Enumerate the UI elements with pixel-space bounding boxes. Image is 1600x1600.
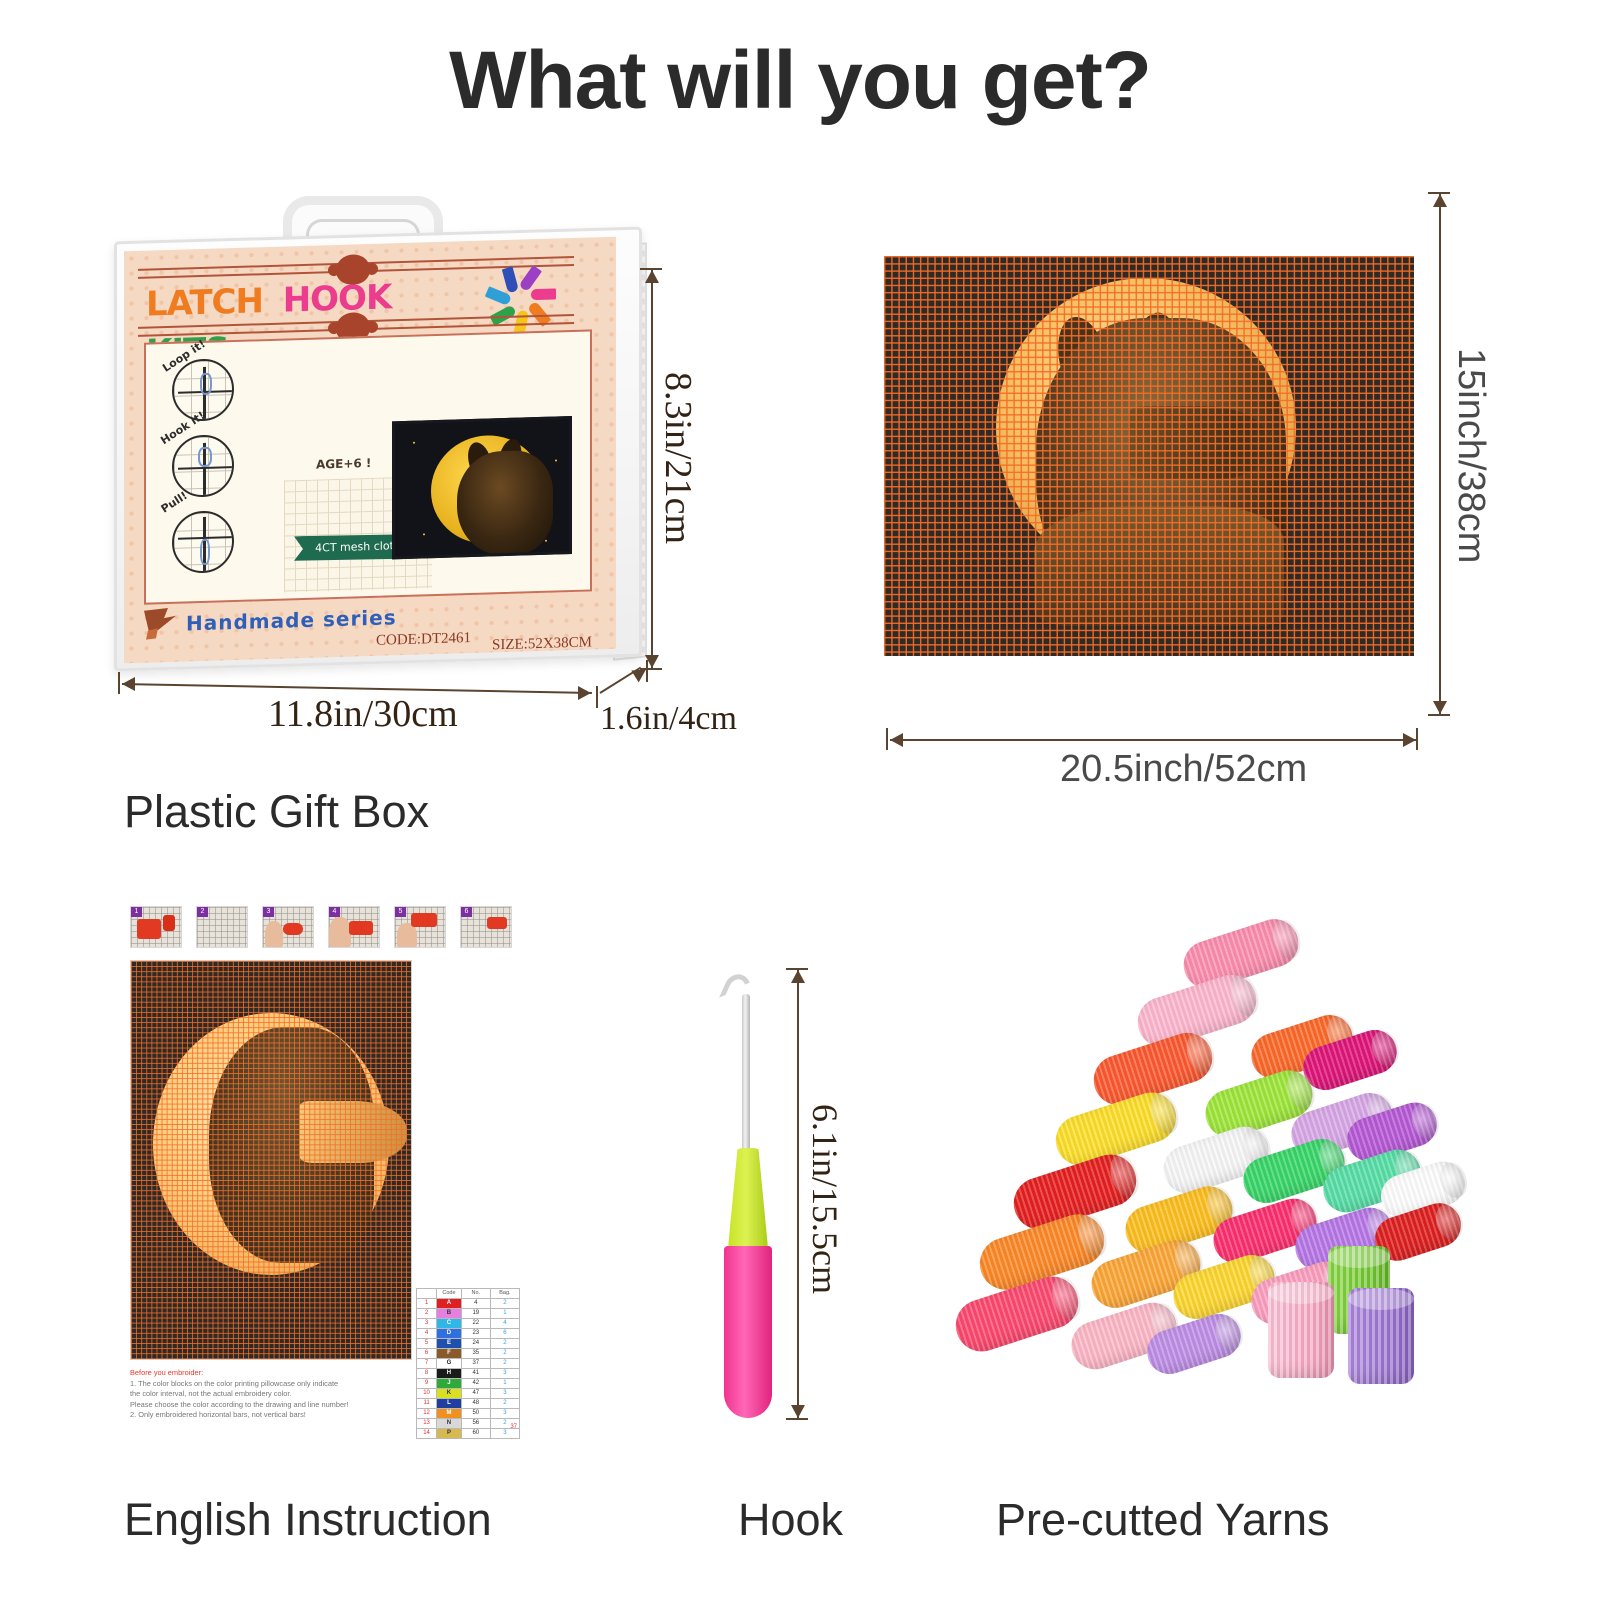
- legend-cell-index: 9: [417, 1379, 437, 1389]
- legend-row: 4D236: [417, 1329, 520, 1339]
- legend-cell-bag: 6: [490, 1329, 519, 1339]
- legend-cell-code: H: [437, 1369, 462, 1379]
- legend-cell-no: 48: [461, 1399, 490, 1409]
- step-diagram-pull: [172, 510, 234, 574]
- legend-cell-no: 60: [461, 1429, 490, 1439]
- box-printed-face: LATCH HOOK KITS Loop it!: [124, 237, 616, 664]
- hook-handle-upper: [728, 1148, 768, 1248]
- instruction-pattern-chart: [130, 960, 412, 1360]
- legend-cell-no: 37: [461, 1359, 490, 1369]
- finished-rug-photo: [392, 416, 572, 559]
- legend-cell-bag: 3: [490, 1409, 519, 1419]
- legend-cell-no: 50: [461, 1409, 490, 1419]
- legend-cell-index: 12: [417, 1409, 437, 1419]
- thumbnail-step-2: 2: [196, 906, 248, 948]
- yarns-caption: Pre-cutted Yarns: [996, 1494, 1330, 1546]
- box-code-text: CODE:DT2461: [376, 630, 471, 650]
- legend-cell-no: 42: [461, 1379, 490, 1389]
- legend-row: 12M503: [417, 1409, 520, 1419]
- legend-cell-bag: 4: [490, 1319, 519, 1329]
- brand-word-hook: HOOK: [283, 277, 392, 320]
- before-embroider-line-1: 1. The color blocks on the color printin…: [130, 1379, 416, 1390]
- english-instruction-sheet: 1 2 3 4 5 6: [124, 898, 524, 1398]
- legend-header-row: Code No. Bag.: [417, 1289, 520, 1299]
- thumbnail-number: 1: [131, 907, 142, 917]
- legend-cell-index: 10: [417, 1389, 437, 1399]
- instruction-thumbnail-strip: 1 2 3 4 5 6: [130, 906, 518, 956]
- before-embroider-heading: Before you embroider:: [130, 1368, 416, 1379]
- legend-cell-no: 22: [461, 1319, 490, 1329]
- legend-cell-no: 35: [461, 1349, 490, 1359]
- legend-cell-no: 19: [461, 1309, 490, 1319]
- legend-cell-no: 41: [461, 1369, 490, 1379]
- handmade-series-text: Handmade series: [186, 605, 397, 635]
- thumbnail-number: 6: [461, 907, 472, 917]
- legend-cell-index: 7: [417, 1359, 437, 1369]
- canvas-width-label: 20.5inch/52cm: [1060, 748, 1307, 791]
- legend-cell-code: K: [437, 1389, 462, 1399]
- mesh-canvas-image: [884, 256, 1414, 656]
- legend-cell-code: M: [437, 1409, 462, 1419]
- legend-row: 8H413: [417, 1369, 520, 1379]
- legend-cell-bag: 2: [490, 1399, 519, 1409]
- legend-cell-no: 24: [461, 1339, 490, 1349]
- legend-cell-index: 14: [417, 1429, 437, 1439]
- legend-cell-bag: 1: [490, 1309, 519, 1319]
- yarn-color-legend-table: Code No. Bag. 1A422B1913C2244D2365E2426F…: [416, 1288, 520, 1439]
- thumbnail-number: 2: [197, 907, 208, 917]
- legend-cell-no: 47: [461, 1389, 490, 1399]
- legend-row: 2B191: [417, 1309, 520, 1319]
- before-embroider-line-2: the color interval, not the actual embro…: [130, 1389, 416, 1400]
- legend-cell-bag: 2: [490, 1299, 519, 1309]
- legend-cell-bag: 3: [490, 1369, 519, 1379]
- thumbnail-step-5: 5: [394, 906, 446, 948]
- yarn-tube-purple: [1348, 1288, 1414, 1384]
- thumbnail-number: 4: [329, 907, 340, 917]
- thumbnail-step-6: 6: [460, 906, 512, 948]
- legend-cell-no: 4: [461, 1299, 490, 1309]
- legend-row: 7G372: [417, 1359, 520, 1369]
- hook-handle-lower: [724, 1246, 772, 1418]
- ribbon-corner-icon: [142, 606, 184, 641]
- page-title: What will you get?: [0, 34, 1600, 128]
- legend-row: 3C224: [417, 1319, 520, 1329]
- legend-row: 14P603: [417, 1429, 520, 1439]
- legend-row: 11L482: [417, 1399, 520, 1409]
- brand-word-latch: LATCH: [146, 281, 263, 324]
- legend-cell-bag: 3: [490, 1389, 519, 1399]
- thumbnail-step-1: 1: [130, 906, 182, 948]
- legend-total: 37: [416, 1424, 520, 1430]
- legend-cell-index: 4: [417, 1329, 437, 1339]
- hook-length-label: 6.1in/15.5cm: [804, 1104, 846, 1294]
- legend-cell-index: 11: [417, 1399, 437, 1409]
- before-embroider-notes: Before you embroider: 1. The color block…: [130, 1368, 416, 1421]
- legend-cell-index: 5: [417, 1339, 437, 1349]
- legend-row: 1A42: [417, 1299, 520, 1309]
- legend-row: 6F352: [417, 1349, 520, 1359]
- legend-cell-bag: 1: [490, 1379, 519, 1389]
- gift-box-caption: Plastic Gift Box: [124, 786, 429, 838]
- legend-header-no: No.: [461, 1289, 490, 1299]
- legend-header-bag: Bag.: [490, 1289, 519, 1299]
- legend-cell-bag: 2: [490, 1339, 519, 1349]
- legend-cell-code: L: [437, 1399, 462, 1409]
- legend-header-index: [417, 1289, 437, 1299]
- legend-cell-code: B: [437, 1309, 462, 1319]
- legend-cell-code: C: [437, 1319, 462, 1329]
- legend-cell-code: G: [437, 1359, 462, 1369]
- box-instruction-panel: Loop it! Hook it! Pull!: [144, 329, 592, 604]
- legend-row: 9J421: [417, 1379, 520, 1389]
- box-width-label: 11.8in/30cm: [268, 692, 458, 736]
- yarn-tube-pink: [1268, 1282, 1334, 1378]
- before-embroider-line-4: 2. Only embroidered horizontal bars, not…: [130, 1410, 416, 1421]
- legend-cell-bag: 2: [490, 1349, 519, 1359]
- legend-cell-bag: 3: [490, 1429, 519, 1439]
- thumbnail-number: 3: [263, 907, 274, 917]
- legend-row: 10K473: [417, 1389, 520, 1399]
- age-note: AGE+6 !: [316, 456, 371, 472]
- legend-cell-code: E: [437, 1339, 462, 1349]
- legend-cell-index: 6: [417, 1349, 437, 1359]
- legend-cell-code: A: [437, 1299, 462, 1309]
- gift-box-image: LATCH HOOK KITS Loop it!: [108, 196, 648, 666]
- canvas-height-label: 15inch/38cm: [1449, 348, 1492, 563]
- legend-cell-index: 2: [417, 1309, 437, 1319]
- instruction-caption: English Instruction: [124, 1494, 492, 1546]
- pre-cutted-yarns-image: [950, 920, 1470, 1430]
- box-depth-label: 1.6in/4cm: [600, 700, 737, 738]
- hook-needle: [742, 994, 750, 1154]
- hook-caption: Hook: [738, 1494, 843, 1546]
- legend-cell-bag: 2: [490, 1359, 519, 1369]
- legend-cell-index: 8: [417, 1369, 437, 1379]
- thumbnail-step-4: 4: [328, 906, 380, 948]
- thumbnail-number: 5: [395, 907, 406, 917]
- legend-row: 5E242: [417, 1339, 520, 1349]
- legend-cell-code: P: [437, 1429, 462, 1439]
- legend-cell-index: 1: [417, 1299, 437, 1309]
- thumbnail-step-3: 3: [262, 906, 314, 948]
- legend-cell-code: J: [437, 1379, 462, 1389]
- before-embroider-line-3: Please choose the color according to the…: [130, 1400, 416, 1411]
- box-height-label: 8.3in/21cm: [656, 372, 700, 544]
- legend-cell-no: 23: [461, 1329, 490, 1339]
- legend-cell-code: D: [437, 1329, 462, 1339]
- legend-cell-index: 3: [417, 1319, 437, 1329]
- legend-header-code: Code: [437, 1289, 462, 1299]
- legend-cell-code: F: [437, 1349, 462, 1359]
- step-diagram-hook: [172, 434, 234, 498]
